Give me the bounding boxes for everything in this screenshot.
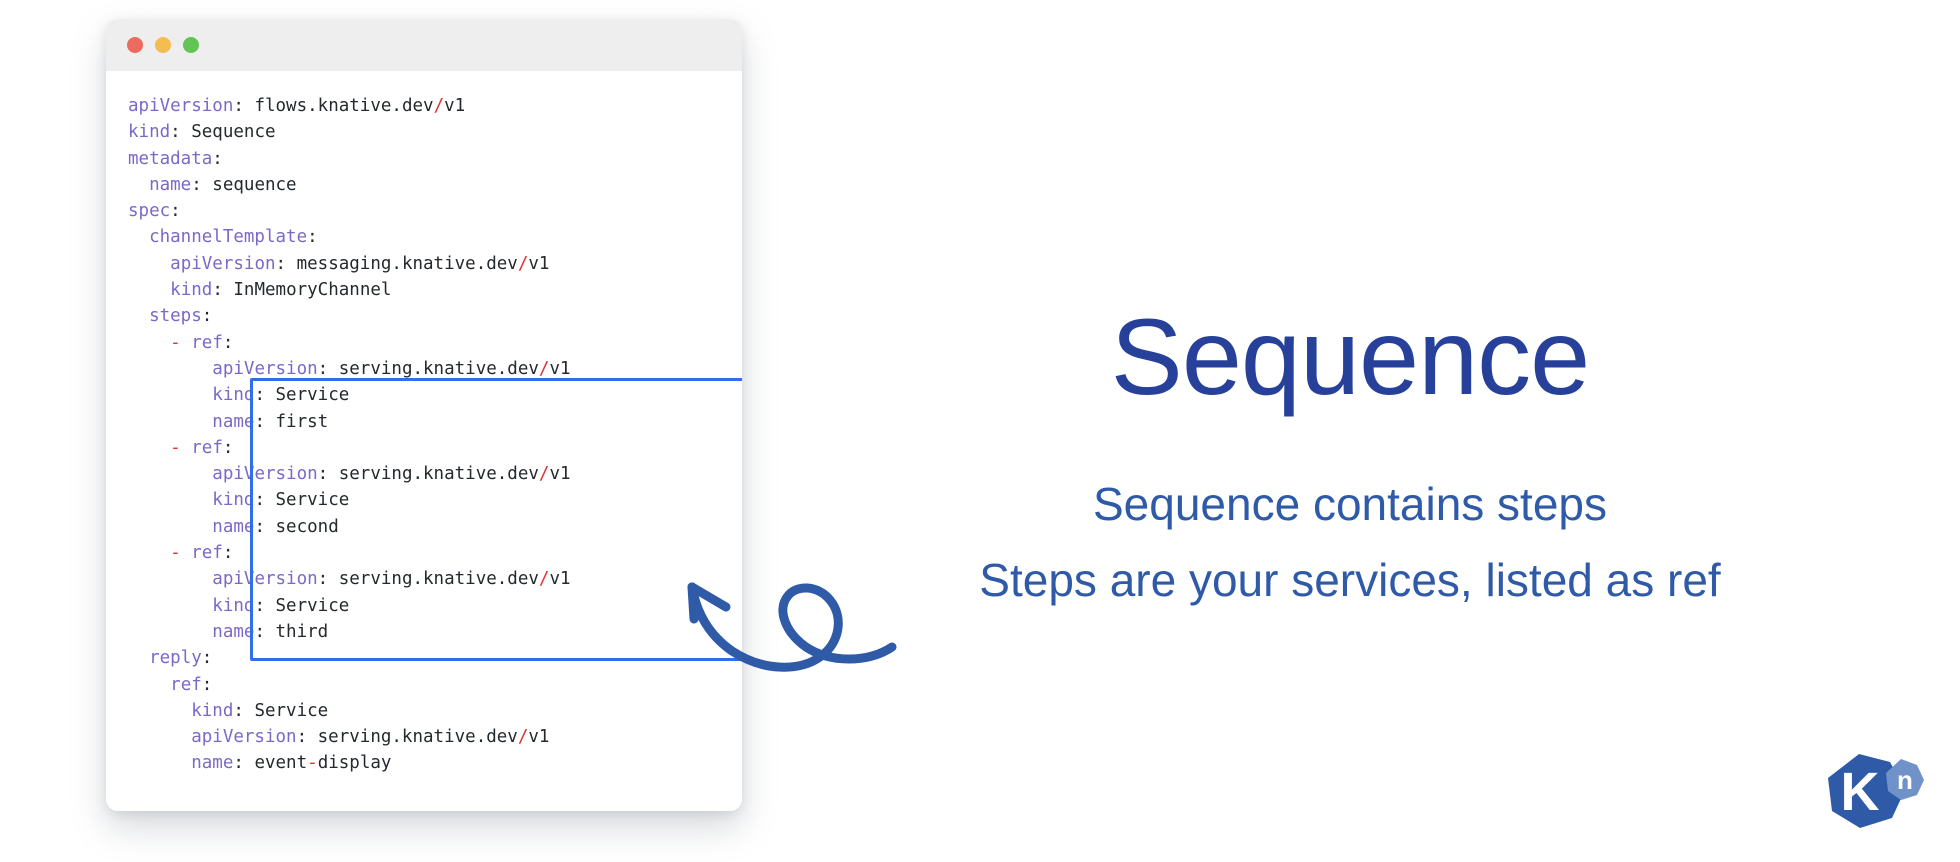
code-line: steps: [128,303,742,329]
code-line: channelTemplate: [128,224,742,250]
code-line: kind: Service [128,593,742,619]
code-line: apiVersion: serving.knative.dev/v1 [128,356,742,382]
page-title: Sequence [1090,300,1610,413]
logo-letter-n: n [1897,765,1913,795]
code-line: apiVersion: serving.knative.dev/v1 [128,461,742,487]
subtitle-line-1: Sequence contains steps [880,466,1820,542]
code-line: apiVersion: serving.knative.dev/v1 [128,724,742,750]
curved-arrow-icon [680,575,950,685]
code-line: - ref: [128,540,742,566]
minimize-button[interactable] [155,37,171,53]
subtitle-line-2: Steps are your services, listed as ref [880,542,1820,618]
code-line: apiVersion: messaging.knative.dev/v1 [128,251,742,277]
code-line: reply: [128,645,742,671]
code-line: name: event-display [128,750,742,776]
code-line: apiVersion: serving.knative.dev/v1 [128,566,742,592]
code-line: spec: [128,198,742,224]
code-line: kind: Service [128,382,742,408]
subtitle-block: Sequence contains steps Steps are your s… [880,466,1820,618]
close-button[interactable] [127,37,143,53]
code-line: apiVersion: flows.knative.dev/v1 [128,93,742,119]
code-line: kind: Service [128,487,742,513]
code-window: apiVersion: flows.knative.dev/v1kind: Se… [106,19,742,811]
yaml-code-block[interactable]: apiVersion: flows.knative.dev/v1kind: Se… [106,93,742,777]
code-line: name: second [128,514,742,540]
code-line: kind: Sequence [128,119,742,145]
code-line: metadata: [128,146,742,172]
code-line: - ref: [128,330,742,356]
knative-logo: K n [1812,748,1932,848]
code-line: - ref: [128,435,742,461]
code-line: name: first [128,409,742,435]
code-line: kind: Service [128,698,742,724]
code-line: name: sequence [128,172,742,198]
zoom-button[interactable] [183,37,199,53]
code-line: name: third [128,619,742,645]
logo-letter-k: K [1841,762,1880,822]
window-titlebar [106,19,742,71]
code-line: kind: InMemoryChannel [128,277,742,303]
code-body: apiVersion: flows.knative.dev/v1kind: Se… [106,71,742,811]
code-line: ref: [128,672,742,698]
